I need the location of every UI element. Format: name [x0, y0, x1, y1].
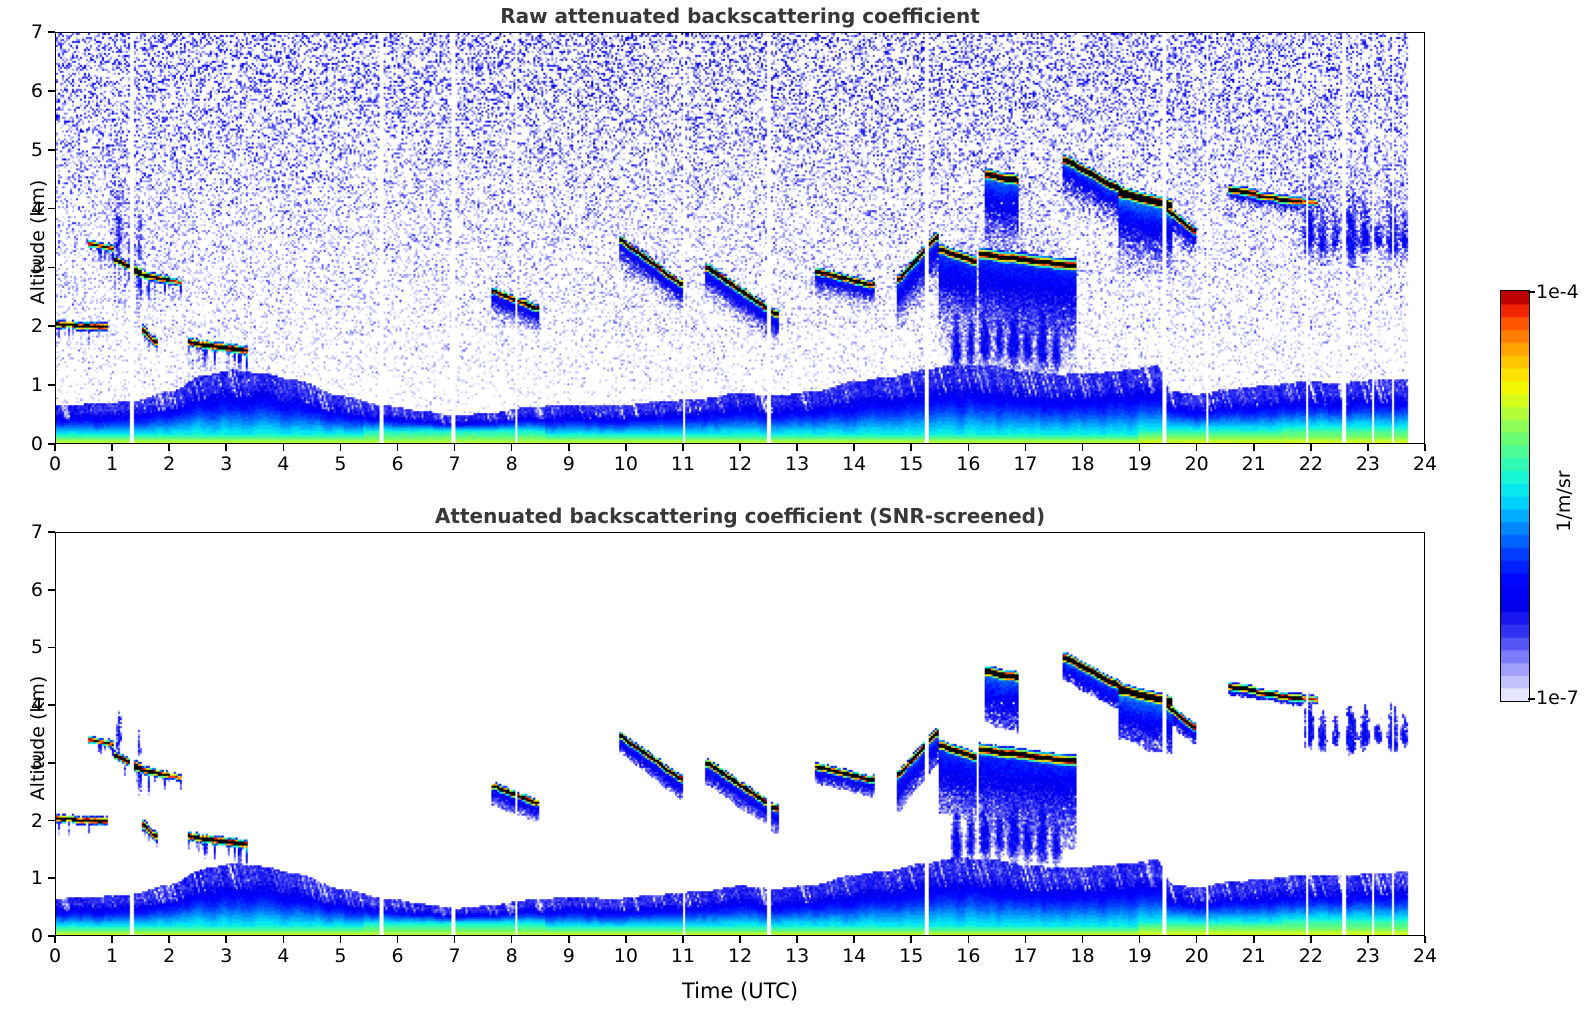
ytick-screened-7 — [48, 531, 55, 533]
colorbar[interactable] — [1500, 290, 1528, 700]
yticklabel-raw-6: 6 — [13, 80, 43, 102]
ytick-screened-3 — [48, 762, 55, 764]
yticklabel-raw-1: 1 — [13, 374, 43, 396]
xticklabel-raw-8: 8 — [506, 453, 518, 475]
xticklabel-screened-18: 18 — [1070, 945, 1094, 967]
colorbar-label: 1/m/sr — [1553, 441, 1575, 561]
ytick-raw-5 — [48, 149, 55, 151]
xticklabel-raw-1: 1 — [106, 453, 118, 475]
yticklabel-raw-7: 7 — [13, 21, 43, 43]
xticklabel-raw-2: 2 — [163, 453, 175, 475]
ytick-screened-2 — [48, 820, 55, 822]
xtick-screened-6 — [397, 936, 399, 943]
xticklabel-raw-5: 5 — [334, 453, 346, 475]
xtick-raw-21 — [1253, 444, 1255, 451]
xticklabel-raw-24: 24 — [1413, 453, 1437, 475]
xtick-raw-15 — [910, 444, 912, 451]
figure-canvas: Raw attenuated backscattering coefficien… — [0, 0, 1595, 1020]
xtick-raw-14 — [853, 444, 855, 451]
xtick-raw-16 — [968, 444, 970, 451]
yticklabel-screened-6: 6 — [13, 579, 43, 601]
ytick-screened-4 — [48, 704, 55, 706]
xtick-raw-3 — [225, 444, 227, 451]
xticklabel-screened-4: 4 — [277, 945, 289, 967]
xtick-screened-13 — [796, 936, 798, 943]
xtick-screened-22 — [1310, 936, 1312, 943]
xtick-raw-2 — [168, 444, 170, 451]
xticklabel-screened-14: 14 — [842, 945, 866, 967]
xtick-raw-18 — [1082, 444, 1084, 451]
xticklabel-screened-16: 16 — [956, 945, 980, 967]
xticklabel-screened-12: 12 — [728, 945, 752, 967]
colorbar-tick-max: 1e-4 — [1536, 281, 1579, 303]
xtick-screened-0 — [54, 936, 56, 943]
xticklabel-raw-3: 3 — [220, 453, 232, 475]
xticklabel-raw-4: 4 — [277, 453, 289, 475]
xtick-screened-16 — [968, 936, 970, 943]
colorbar-gradient — [1500, 290, 1530, 702]
xtick-screened-8 — [511, 936, 513, 943]
xticklabel-screened-17: 17 — [1013, 945, 1037, 967]
xtick-screened-20 — [1196, 936, 1198, 943]
xtick-raw-23 — [1367, 444, 1369, 451]
xticklabel-raw-21: 21 — [1242, 453, 1266, 475]
ytick-raw-0 — [48, 443, 55, 445]
xtick-screened-11 — [682, 936, 684, 943]
xticklabel-raw-19: 19 — [1127, 453, 1151, 475]
yticklabel-screened-0: 0 — [13, 925, 43, 947]
xticklabel-raw-14: 14 — [842, 453, 866, 475]
xtick-raw-6 — [397, 444, 399, 451]
xticklabel-raw-7: 7 — [449, 453, 461, 475]
xtick-raw-4 — [283, 444, 285, 451]
xticklabel-screened-20: 20 — [1185, 945, 1209, 967]
xtick-raw-12 — [739, 444, 741, 451]
xtick-screened-7 — [454, 936, 456, 943]
xticklabel-raw-18: 18 — [1070, 453, 1094, 475]
xtick-screened-2 — [168, 936, 170, 943]
xticklabel-raw-6: 6 — [391, 453, 403, 475]
xtick-screened-10 — [625, 936, 627, 943]
yticklabel-raw-3: 3 — [13, 256, 43, 278]
xticklabel-screened-15: 15 — [899, 945, 923, 967]
xticklabel-screened-23: 23 — [1356, 945, 1380, 967]
yticklabel-screened-4: 4 — [13, 694, 43, 716]
xtick-screened-21 — [1253, 936, 1255, 943]
heatmap-screened — [56, 533, 1424, 935]
xticklabel-raw-11: 11 — [671, 453, 695, 475]
xticklabel-raw-10: 10 — [614, 453, 638, 475]
xtick-screened-24 — [1424, 936, 1426, 943]
panel-title-screened: Attenuated backscattering coefficient (S… — [55, 504, 1425, 528]
xticklabel-screened-8: 8 — [506, 945, 518, 967]
xticklabel-screened-3: 3 — [220, 945, 232, 967]
yticklabel-screened-5: 5 — [13, 636, 43, 658]
xticklabel-screened-6: 6 — [391, 945, 403, 967]
ytick-raw-1 — [48, 384, 55, 386]
xtick-screened-5 — [340, 936, 342, 943]
ytick-raw-4 — [48, 208, 55, 210]
xticklabel-screened-19: 19 — [1127, 945, 1151, 967]
yticklabel-raw-0: 0 — [13, 433, 43, 455]
xtick-raw-24 — [1424, 444, 1426, 451]
panel-title-raw: Raw attenuated backscattering coefficien… — [55, 4, 1425, 28]
xtick-raw-22 — [1310, 444, 1312, 451]
xtick-raw-7 — [454, 444, 456, 451]
ytick-screened-6 — [48, 589, 55, 591]
xtick-raw-8 — [511, 444, 513, 451]
xtick-screened-1 — [111, 936, 113, 943]
ytick-raw-2 — [48, 325, 55, 327]
xticklabel-raw-15: 15 — [899, 453, 923, 475]
panel-screened-axes[interactable] — [55, 532, 1425, 936]
xticklabel-raw-12: 12 — [728, 453, 752, 475]
xtick-raw-1 — [111, 444, 113, 451]
xticklabel-screened-21: 21 — [1242, 945, 1266, 967]
panel-screened-xlabel: Time (UTC) — [682, 979, 798, 1003]
xtick-screened-23 — [1367, 936, 1369, 943]
xticklabel-raw-20: 20 — [1185, 453, 1209, 475]
panel-raw-axes[interactable] — [55, 32, 1425, 444]
yticklabel-raw-5: 5 — [13, 139, 43, 161]
xtick-raw-19 — [1139, 444, 1141, 451]
panel-raw-ylabel: Altitude (km) — [27, 162, 49, 322]
xtick-raw-5 — [340, 444, 342, 451]
xtick-raw-9 — [568, 444, 570, 451]
xticklabel-raw-16: 16 — [956, 453, 980, 475]
xtick-screened-17 — [1025, 936, 1027, 943]
xticklabel-raw-9: 9 — [563, 453, 575, 475]
xtick-screened-18 — [1082, 936, 1084, 943]
colorbar-tick-min: 1e-7 — [1536, 687, 1579, 709]
xtick-screened-4 — [283, 936, 285, 943]
xtick-screened-9 — [568, 936, 570, 943]
xticklabel-raw-22: 22 — [1299, 453, 1323, 475]
xticklabel-screened-1: 1 — [106, 945, 118, 967]
xticklabel-screened-9: 9 — [563, 945, 575, 967]
xticklabel-screened-5: 5 — [334, 945, 346, 967]
xtick-screened-19 — [1139, 936, 1141, 943]
colorbar-tick-mark-max — [1528, 291, 1535, 293]
xticklabel-raw-23: 23 — [1356, 453, 1380, 475]
xtick-screened-12 — [739, 936, 741, 943]
ytick-screened-1 — [48, 877, 55, 879]
panel-screened-ylabel: Altitude (km) — [27, 658, 49, 818]
yticklabel-raw-4: 4 — [13, 198, 43, 220]
xticklabel-screened-7: 7 — [449, 945, 461, 967]
yticklabel-raw-2: 2 — [13, 315, 43, 337]
xtick-screened-14 — [853, 936, 855, 943]
yticklabel-screened-1: 1 — [13, 867, 43, 889]
xticklabel-screened-10: 10 — [614, 945, 638, 967]
xtick-screened-15 — [910, 936, 912, 943]
ytick-screened-5 — [48, 647, 55, 649]
xticklabel-raw-13: 13 — [785, 453, 809, 475]
yticklabel-screened-3: 3 — [13, 752, 43, 774]
xtick-screened-3 — [225, 936, 227, 943]
xtick-raw-20 — [1196, 444, 1198, 451]
ytick-screened-0 — [48, 935, 55, 937]
xticklabel-screened-24: 24 — [1413, 945, 1437, 967]
xticklabel-screened-13: 13 — [785, 945, 809, 967]
xticklabel-raw-17: 17 — [1013, 453, 1037, 475]
xtick-raw-11 — [682, 444, 684, 451]
xtick-raw-0 — [54, 444, 56, 451]
ytick-raw-3 — [48, 267, 55, 269]
xticklabel-screened-2: 2 — [163, 945, 175, 967]
heatmap-raw — [56, 33, 1424, 443]
xtick-raw-10 — [625, 444, 627, 451]
yticklabel-screened-7: 7 — [13, 521, 43, 543]
xticklabel-screened-0: 0 — [49, 945, 61, 967]
colorbar-tick-mark-min — [1528, 698, 1535, 700]
yticklabel-screened-2: 2 — [13, 810, 43, 832]
xtick-raw-13 — [796, 444, 798, 451]
xtick-raw-17 — [1025, 444, 1027, 451]
xticklabel-screened-11: 11 — [671, 945, 695, 967]
xticklabel-screened-22: 22 — [1299, 945, 1323, 967]
ytick-raw-6 — [48, 90, 55, 92]
xticklabel-raw-0: 0 — [49, 453, 61, 475]
ytick-raw-7 — [48, 31, 55, 33]
